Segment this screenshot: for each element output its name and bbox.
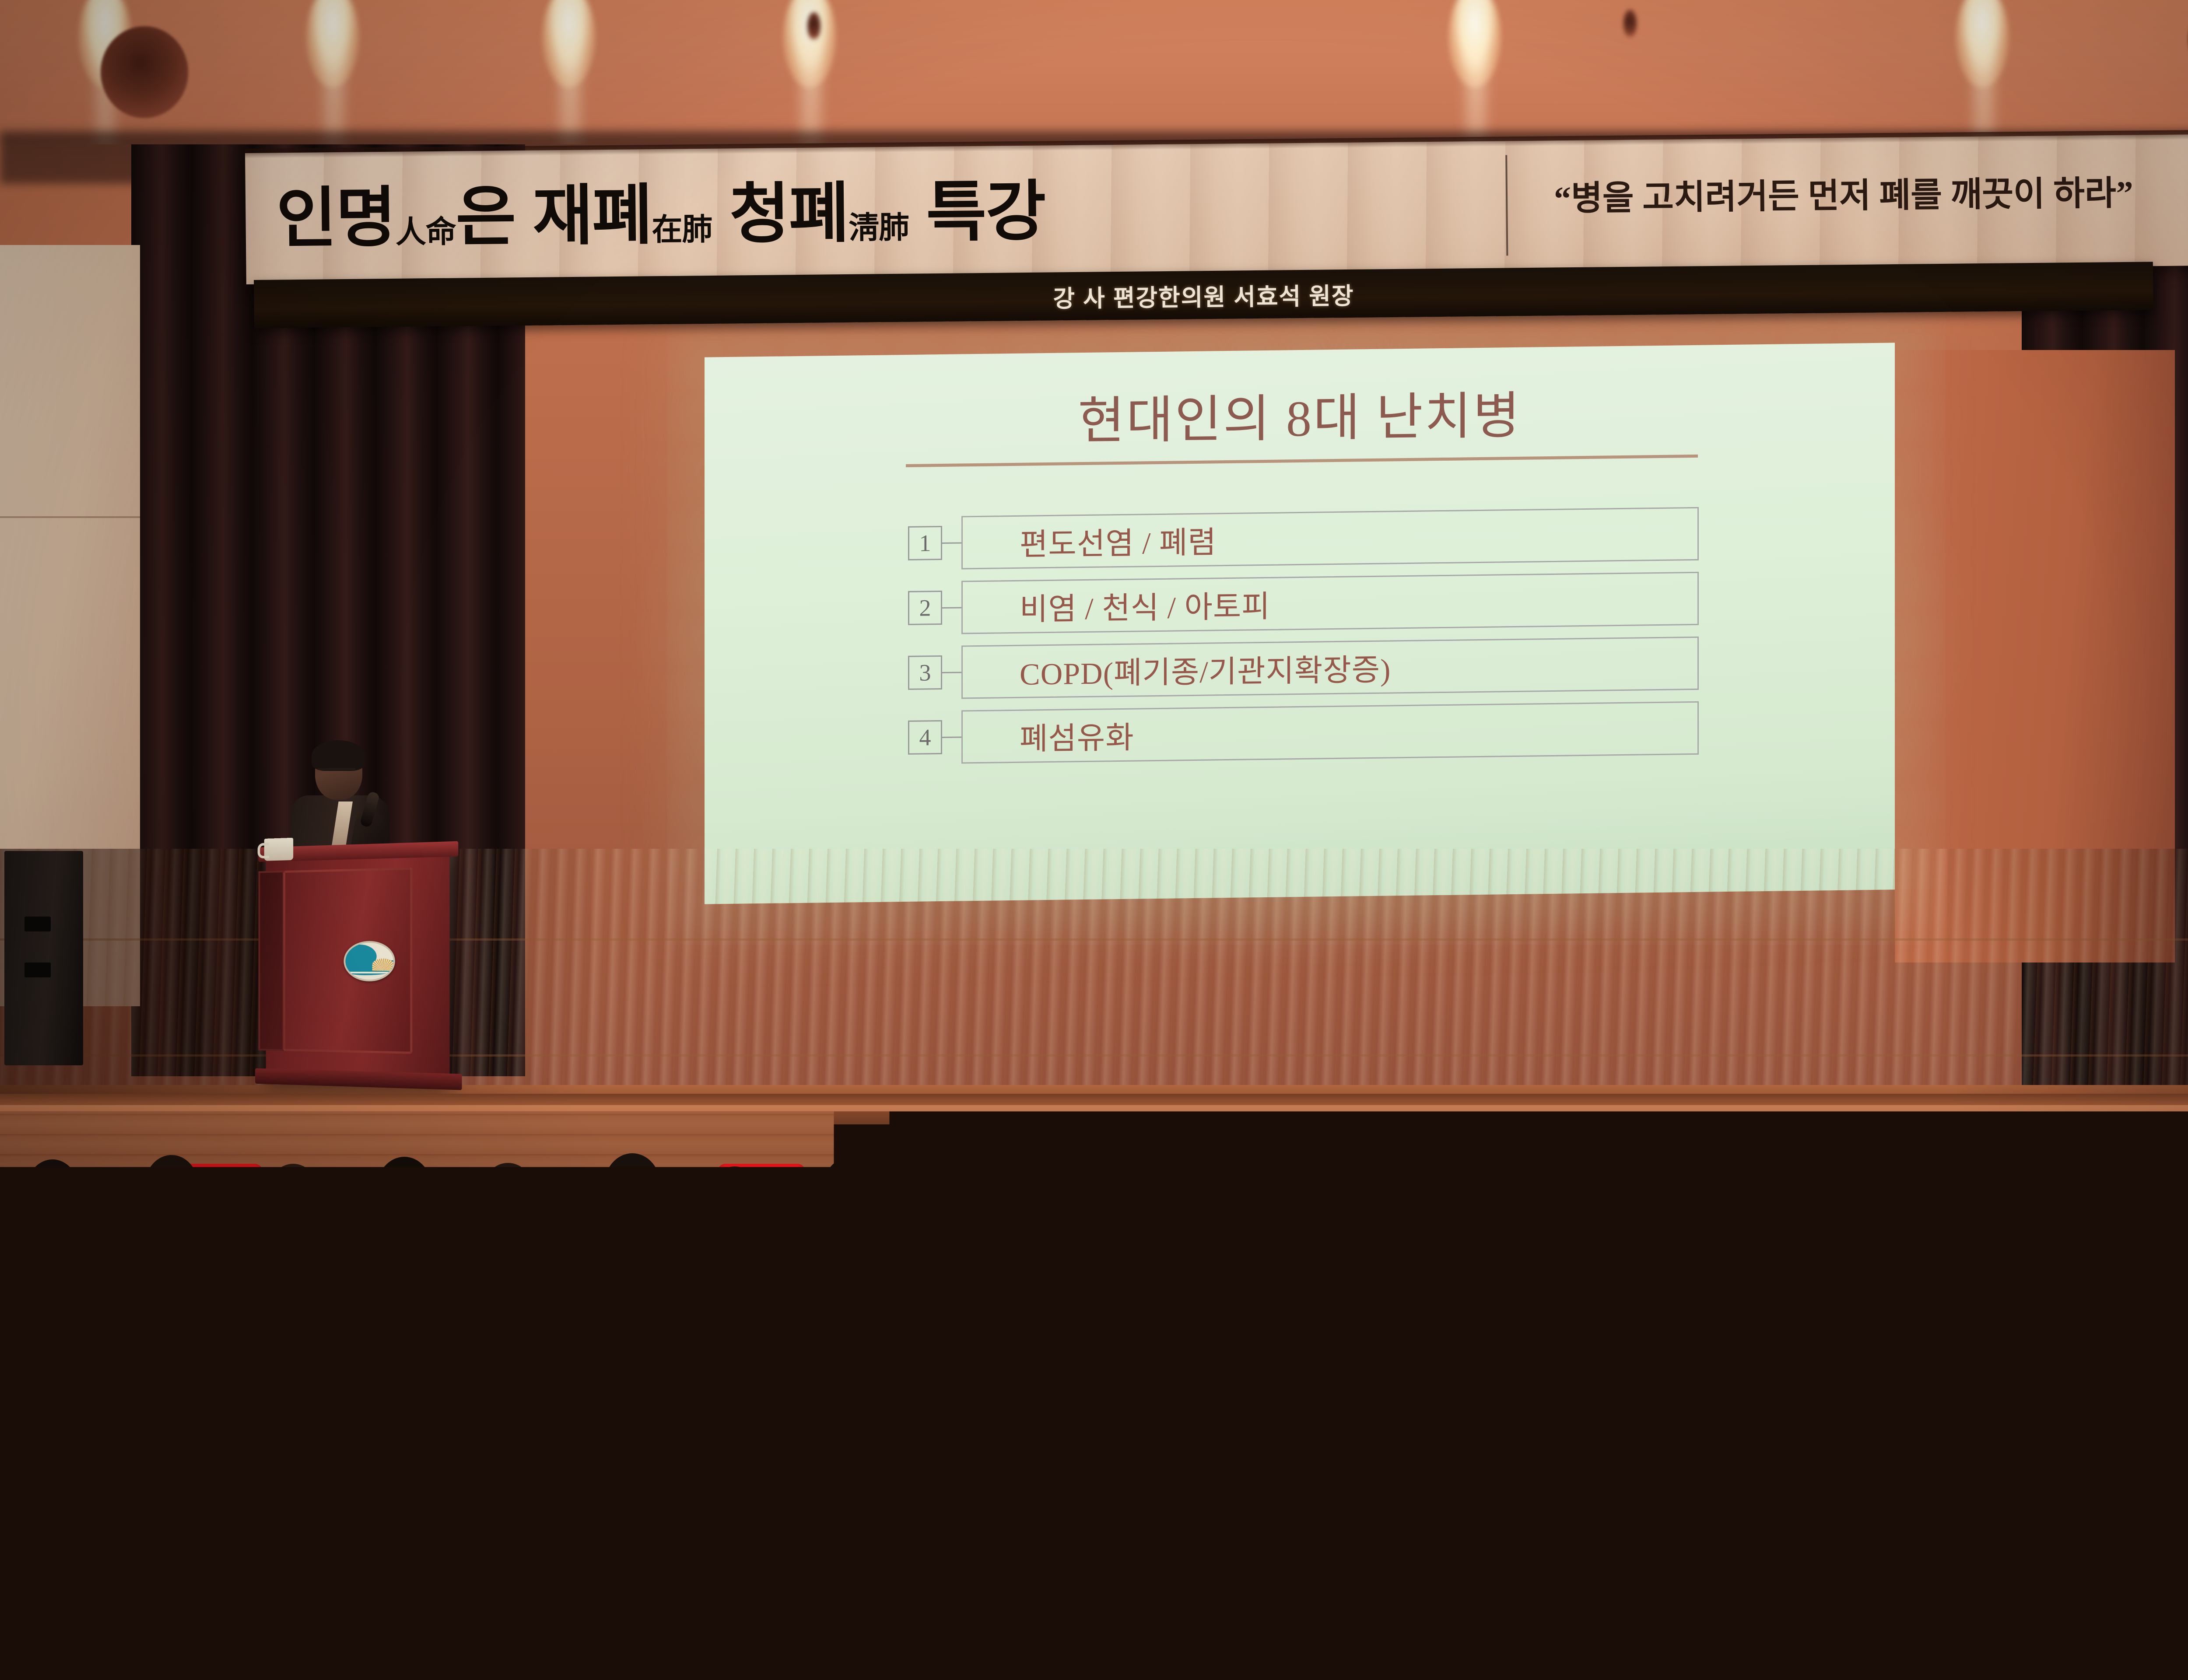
slide-item-connector xyxy=(942,672,961,673)
cable-bundle xyxy=(1103,1422,1374,1566)
audience-head xyxy=(1050,1155,1105,1220)
emblem-line xyxy=(348,976,393,978)
audience-head xyxy=(788,1249,857,1331)
podium xyxy=(266,851,449,1080)
podium-side-panel xyxy=(259,871,284,1051)
banner-title-group: 인명人命은 재폐在肺 청폐淸肺 특강 xyxy=(276,146,1485,280)
audience-head xyxy=(245,1522,363,1649)
audience-head xyxy=(1908,1249,1977,1331)
audience-head xyxy=(2092,1369,2178,1467)
slide-item-list: 1 편도선염 / 폐렴 2 비염 / 천식 / 아토피 3 COPD(폐기종/기… xyxy=(705,504,1895,778)
slide-item-label: 폐섬유화 xyxy=(1020,713,1134,758)
slide-item-connector xyxy=(942,607,961,609)
slide-item-row: 4 폐섬유화 xyxy=(705,699,1895,766)
event-banner: 인명人命은 재폐在肺 청폐淸肺 특강 “병을 고치려거든 먼저 폐를 깨끗이 하… xyxy=(245,134,2188,284)
fedora-hat-icon xyxy=(394,1199,486,1286)
audience-head xyxy=(1750,1157,1806,1221)
wave-sun-emblem-icon xyxy=(344,941,395,981)
slide-item-row: 3 COPD(폐기종/기관지확장증) xyxy=(705,634,1895,702)
audience-head xyxy=(1978,1154,2034,1220)
slide-title: 현대인의 8대 난치병 xyxy=(705,370,1895,458)
slide-item-box: 편도선염 / 폐렴 xyxy=(961,507,1699,570)
audience-head xyxy=(1173,1165,1225,1226)
slide-item-row: 2 비염 / 천식 / 아토피 xyxy=(705,569,1895,637)
audience-head xyxy=(1851,1522,1978,1658)
audience-head xyxy=(490,1531,613,1662)
audience-head xyxy=(709,1166,761,1227)
seat-number-plate xyxy=(201,1211,236,1221)
projector-vent-icon xyxy=(1085,1387,1119,1416)
ceiling-fixture-icon xyxy=(807,12,820,40)
laptop-screen[interactable] xyxy=(1194,1286,1297,1413)
projector xyxy=(910,1319,1129,1424)
banner-quote: “병을 고치려거든 먼저 폐를 깨끗이 하라” xyxy=(1554,165,2167,220)
slide-item-connector xyxy=(942,736,961,738)
audience-head xyxy=(1348,1250,1417,1331)
audience-head xyxy=(1287,1156,1343,1221)
brochure-logo-icon xyxy=(842,1489,867,1501)
banner-title: 인명人命은 재폐在肺 청폐淸肺 특강 xyxy=(276,178,1045,251)
projection-screen: 현대인의 8대 난치병 1 편도선염 / 폐렴 2 비염 / 천식 / 아토피 … xyxy=(705,343,1895,904)
coffee-mug-icon xyxy=(264,838,293,861)
seat-number-plate xyxy=(1375,1216,1412,1225)
handout-paper xyxy=(514,1378,642,1465)
slide-item-number: 3 xyxy=(908,655,942,690)
pa-speaker-cabinet xyxy=(4,851,83,1065)
audience-head xyxy=(267,1164,319,1225)
slide-item-connector xyxy=(942,542,961,544)
slide-item-number: 2 xyxy=(908,591,942,625)
ceiling-speaker-vent-icon xyxy=(101,26,188,118)
banner-divider xyxy=(1505,155,1508,255)
emblem-sun-icon xyxy=(372,959,394,971)
ceiling-fixture-icon xyxy=(1623,10,1637,38)
audience-shoulders xyxy=(368,1295,512,1387)
audience-head xyxy=(1742,1372,1827,1469)
seat-number-plate xyxy=(1585,1214,1622,1223)
audience-head xyxy=(26,1518,153,1649)
seat xyxy=(1549,1391,1680,1501)
audience-head xyxy=(823,1157,879,1222)
stage-edge-rail xyxy=(0,1094,2188,1105)
emblem-line xyxy=(348,972,393,973)
brochure xyxy=(762,1477,888,1634)
attendee-with-hat xyxy=(368,1194,512,1378)
audience-head xyxy=(1523,1154,1579,1220)
slide-item-number: 1 xyxy=(908,526,942,560)
audience-head xyxy=(2096,1164,2149,1226)
audience-head xyxy=(604,1153,661,1220)
audience-head xyxy=(1637,1164,1689,1226)
auditorium-scene: 현대인의 8대 난치병 1 편도선염 / 폐렴 2 비염 / 천식 / 아토피 … xyxy=(0,0,2188,1680)
slide-item-box: 폐섬유화 xyxy=(961,701,1699,764)
audience-head xyxy=(26,1159,79,1221)
slide-item-label: 비염 / 천식 / 아토피 xyxy=(1020,581,1270,629)
audience-head xyxy=(228,1251,296,1331)
audience-head xyxy=(1068,1250,1136,1330)
audience-head xyxy=(1488,1256,1553,1333)
speaker-port-icon xyxy=(25,917,51,931)
glasses-icon xyxy=(318,768,355,770)
audience-head xyxy=(1628,1250,1696,1330)
audience-head xyxy=(508,1250,577,1331)
speaker-port-icon xyxy=(25,962,51,977)
audience-head xyxy=(1925,1378,2008,1471)
podium-front-panel xyxy=(283,868,412,1054)
audience-head xyxy=(420,1375,502,1469)
audience-head xyxy=(643,1256,709,1333)
seat-number-plate xyxy=(79,1216,114,1225)
audience-head xyxy=(1409,1163,1462,1225)
audience-head xyxy=(88,1256,153,1332)
brochure-photo xyxy=(776,1543,880,1621)
slide-item-row: 1 편도선염 / 폐렴 xyxy=(705,504,1895,572)
audience-head xyxy=(2052,1256,2118,1333)
slide-title-rule xyxy=(906,455,1698,467)
slide-item-box: 비염 / 천식 / 아토피 xyxy=(961,572,1699,634)
presenter-hair xyxy=(312,740,365,771)
slide-item-label: COPD(폐기종/기관지확장증) xyxy=(1020,645,1391,693)
slide-item-number: 4 xyxy=(908,720,942,755)
laptop[interactable] xyxy=(1164,1273,1330,1439)
slide-item-box: COPD(폐기종/기관지확장증) xyxy=(961,637,1699,699)
audience-head xyxy=(936,1163,990,1225)
audience-head xyxy=(245,1365,331,1464)
seat-number-plate xyxy=(543,1216,578,1225)
projector-lens-icon xyxy=(1006,1342,1031,1360)
audience-head xyxy=(79,1374,162,1468)
audience-head xyxy=(1864,1162,1918,1225)
audience-head xyxy=(1768,1257,1834,1334)
audience-head xyxy=(1580,1518,1707,1654)
slide-item-label: 편도선염 / 폐렴 xyxy=(1020,518,1217,564)
audience-head xyxy=(144,1155,199,1219)
